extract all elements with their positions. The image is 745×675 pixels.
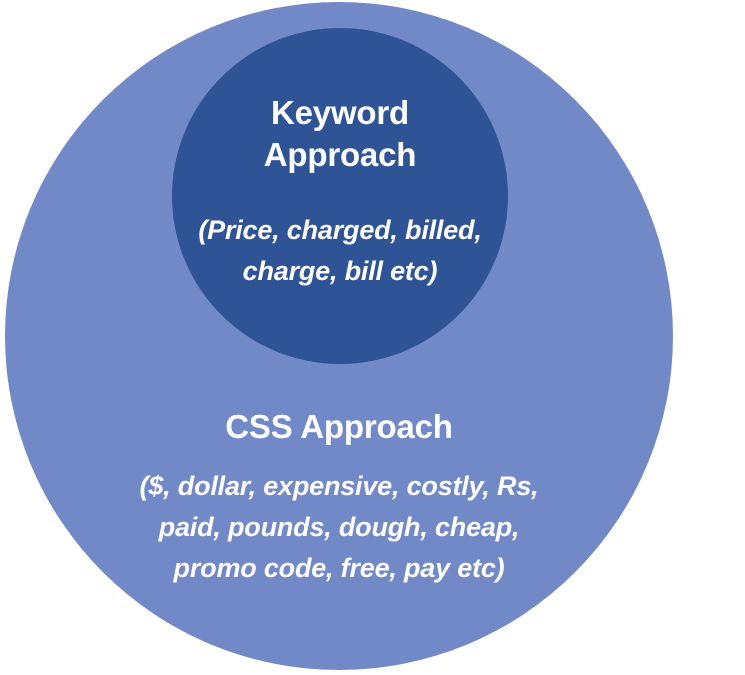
keyword-approach-heading-line-1: Keyword — [172, 92, 508, 134]
keyword-approach-detail: (Price, charged, billed, charge, bill et… — [160, 210, 520, 292]
css-approach-detail-line-3: promo code, free, pay etc) — [89, 548, 589, 589]
keyword-approach-detail-line-1: (Price, charged, billed, — [160, 210, 520, 251]
keyword-approach-heading-line-2: Approach — [172, 134, 508, 176]
keyword-approach-heading: Keyword Approach — [172, 92, 508, 176]
keyword-approach-detail-line-2: charge, bill etc) — [160, 251, 520, 292]
css-approach-detail-line-2: paid, pounds, dough, cheap, — [89, 507, 589, 548]
css-approach-detail: ($, dollar, expensive, costly, Rs, paid,… — [89, 466, 589, 589]
inner-circle-keyword-approach — [172, 28, 508, 364]
venn-diagram-canvas: Keyword Approach (Price, charged, billed… — [0, 0, 745, 675]
css-approach-heading-line-1: CSS Approach — [139, 406, 539, 448]
css-approach-detail-line-1: ($, dollar, expensive, costly, Rs, — [89, 466, 589, 507]
css-approach-heading: CSS Approach — [139, 406, 539, 448]
